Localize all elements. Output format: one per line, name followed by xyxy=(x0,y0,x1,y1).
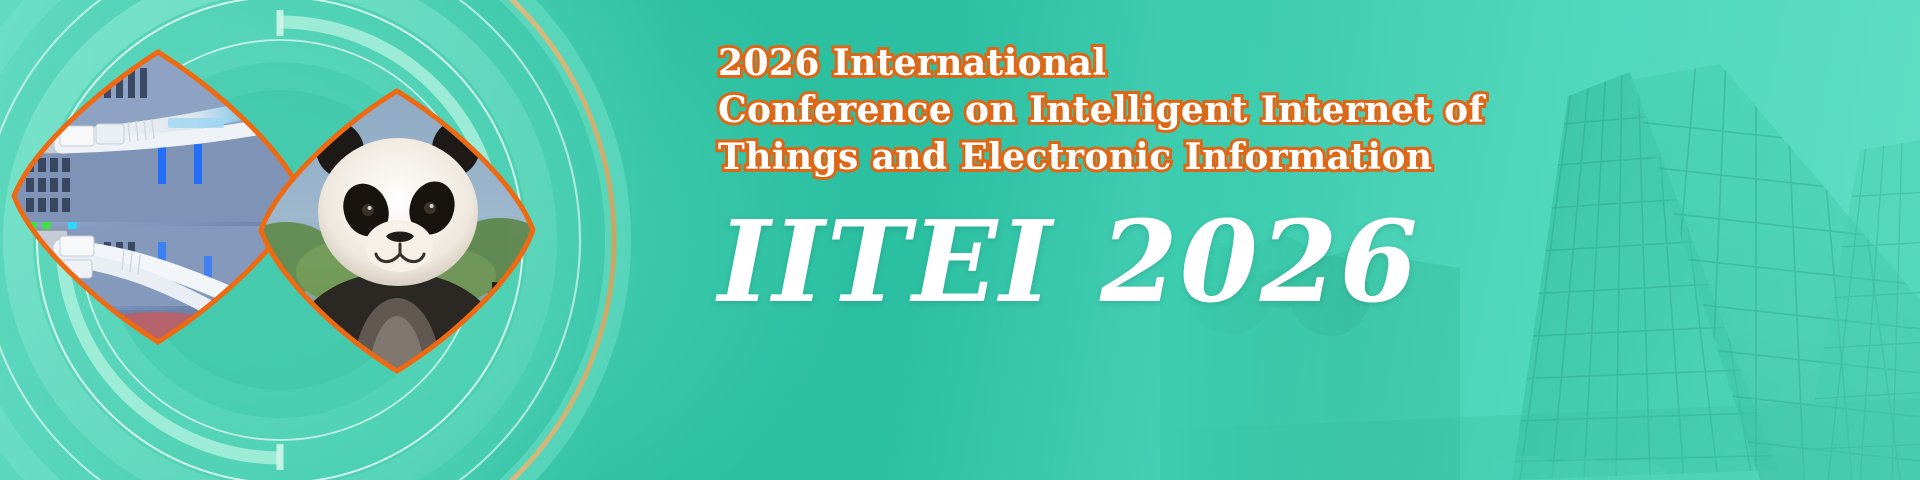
conference-acronym-block: IITEI2026 xyxy=(718,207,1848,319)
title-line-3: Things and Electronic Information xyxy=(718,134,1848,181)
giant-panda-photo xyxy=(256,86,538,376)
conference-banner: 2026 International Conference on Intelli… xyxy=(0,0,1920,480)
conference-text-block: 2026 International Conference on Intelli… xyxy=(718,40,1848,440)
acronym-year: 2026 xyxy=(1100,197,1420,328)
title-line-1: 2026 International xyxy=(718,40,1848,87)
title-line-2: Conference on Intelligent Internet of xyxy=(718,87,1848,134)
acronym-text: IITEI xyxy=(718,197,1054,328)
